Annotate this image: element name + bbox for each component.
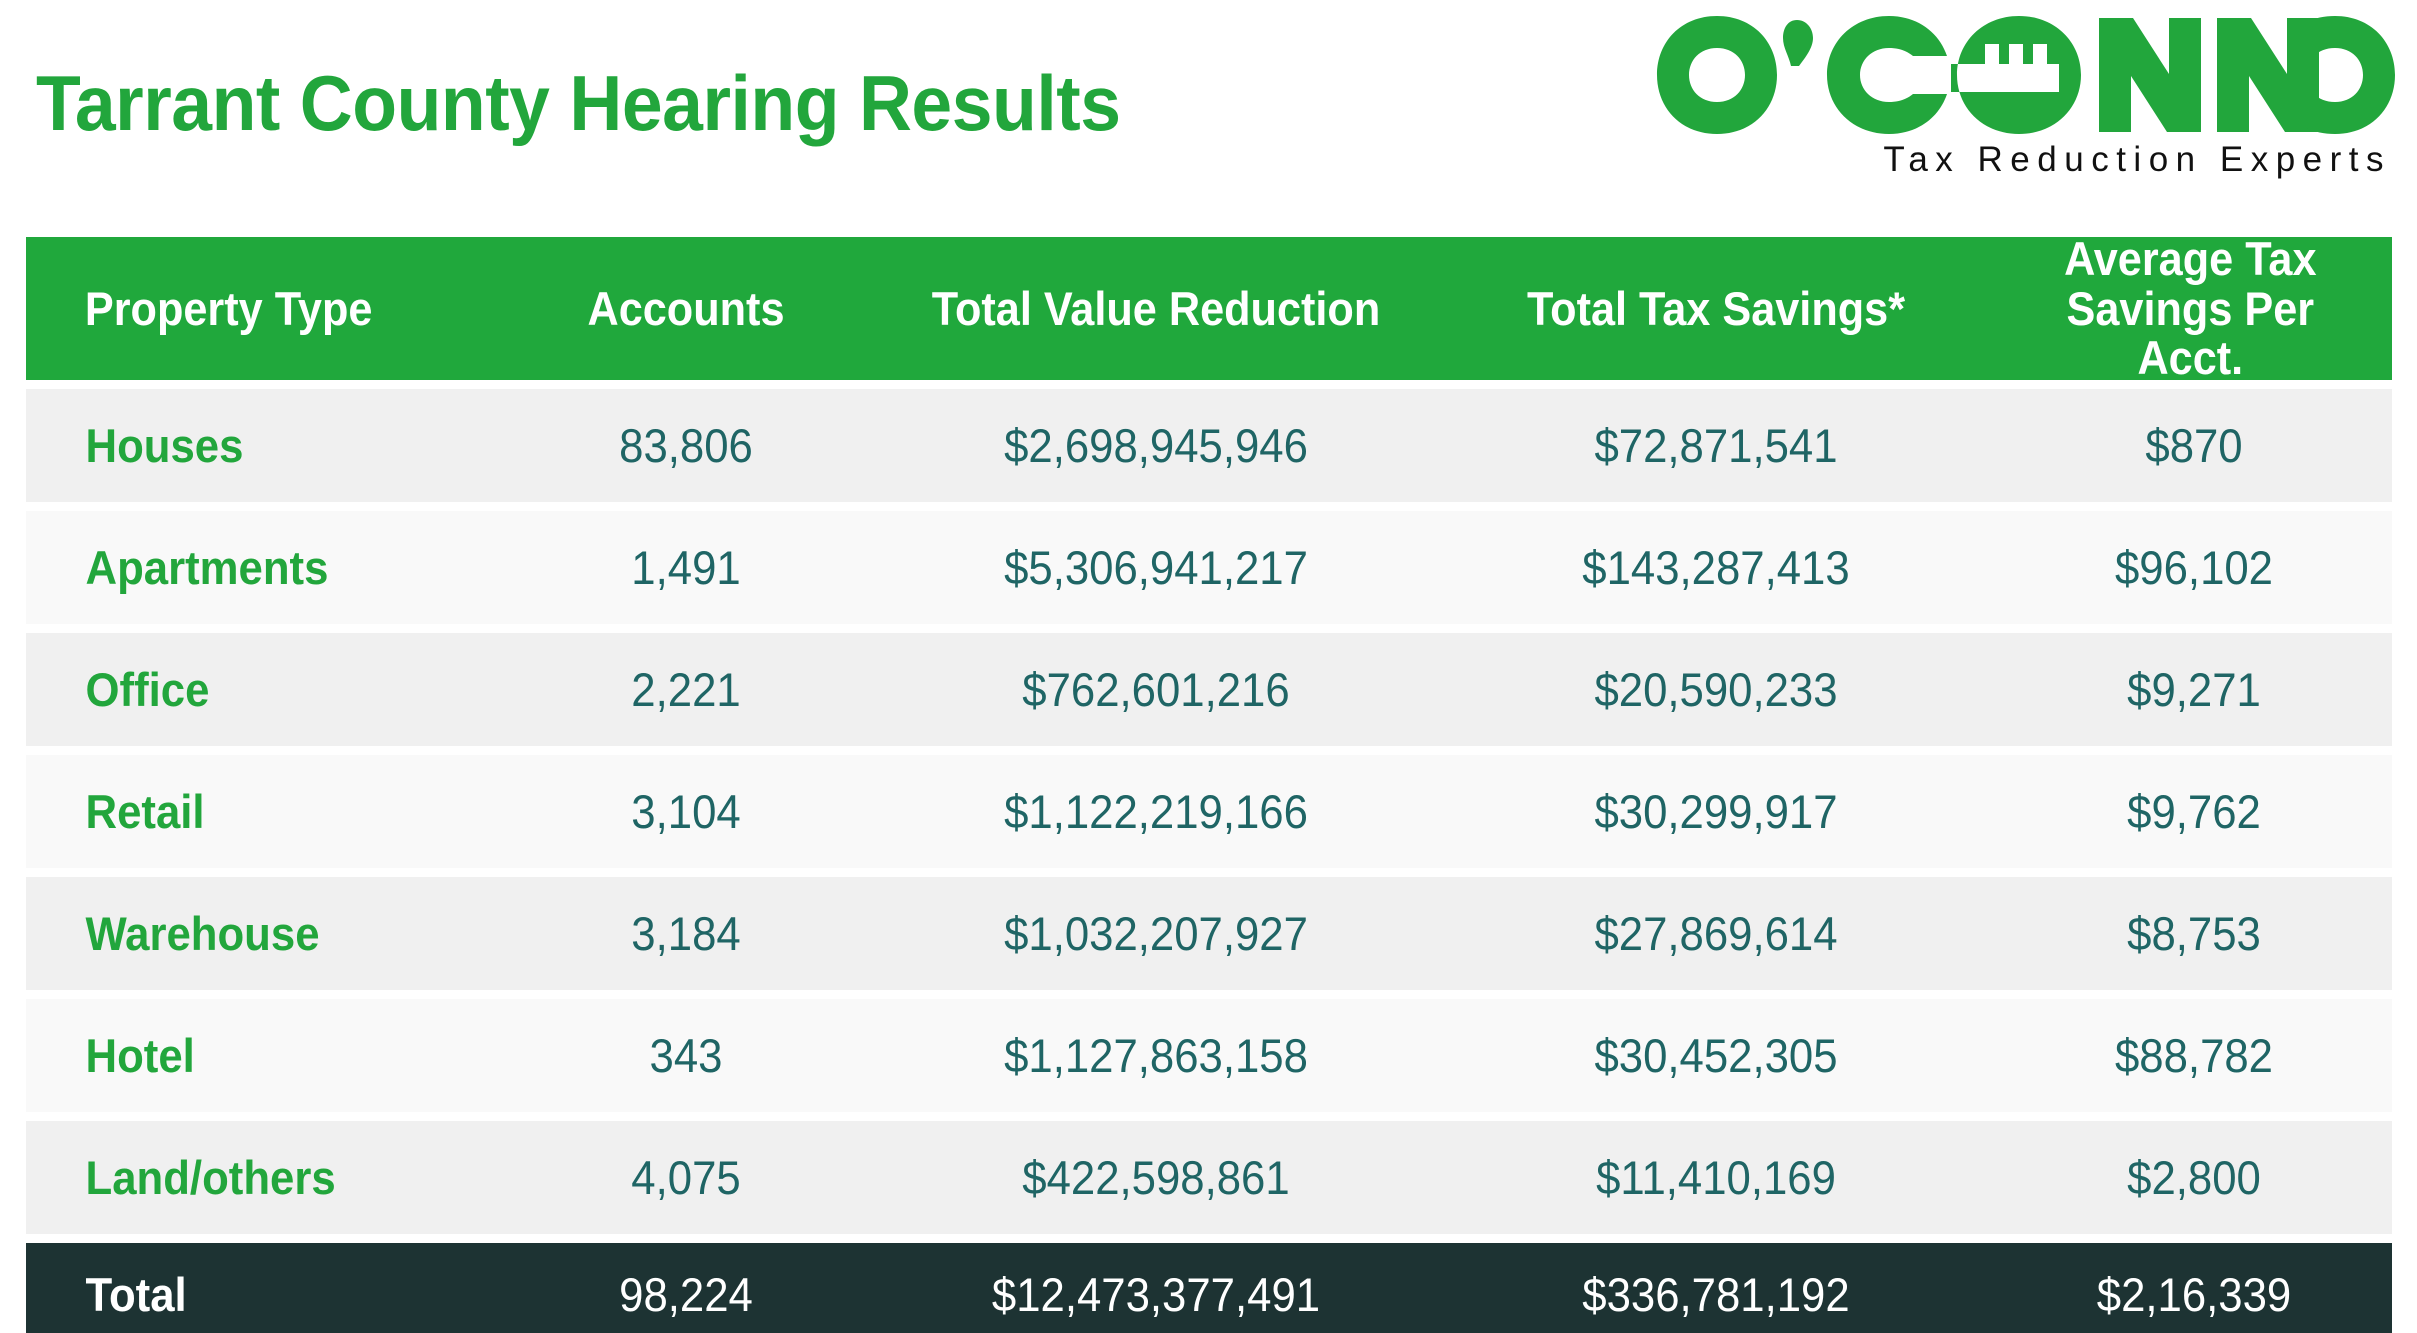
cell-value-reduction: $1,127,863,158	[896, 1031, 1417, 1080]
column-header-avg-savings: Average Tax Savings Per Acct.	[2012, 234, 2376, 383]
page-title: Tarrant County Hearing Results	[36, 58, 1121, 149]
cell-property-type: Apartments	[26, 543, 463, 592]
cell-tax-savings: $11,410,169	[1456, 1153, 1977, 1202]
cell-total-accounts: 98,224	[509, 1270, 862, 1319]
table-row: Office 2,221 $762,601,216 $20,590,233 $9…	[26, 633, 2392, 746]
cell-tax-savings: $72,871,541	[1456, 421, 1977, 470]
oconnor-logo: Tax Reduction Experts	[1655, 14, 2395, 204]
column-header-accounts: Accounts	[511, 284, 861, 334]
cell-accounts: 83,806	[509, 421, 862, 470]
column-header-property-type: Property Type	[26, 284, 458, 334]
table-row: Land/others 4,075 $422,598,861 $11,410,1…	[26, 1121, 2392, 1234]
cell-avg-savings: $9,762	[2010, 787, 2378, 836]
cell-tax-savings: $30,452,305	[1456, 1031, 1977, 1080]
cell-property-type: Warehouse	[26, 909, 463, 958]
logo-tagline: Tax Reduction Experts	[1655, 140, 2395, 180]
table-row: Retail 3,104 $1,122,219,166 $30,299,917 …	[26, 755, 2392, 868]
cell-total-tax-savings: $336,781,192	[1456, 1270, 1977, 1319]
cell-total-value-reduction: $12,473,377,491	[896, 1270, 1417, 1319]
table-total-row: Total 98,224 $12,473,377,491 $336,781,19…	[26, 1243, 2392, 1333]
cell-value-reduction: $1,032,207,927	[896, 909, 1417, 958]
cell-tax-savings: $143,287,413	[1456, 543, 1977, 592]
table-row: Hotel 343 $1,127,863,158 $30,452,305 $88…	[26, 999, 2392, 1112]
table-header-row: Property Type Accounts Total Value Reduc…	[26, 237, 2392, 380]
cell-total-label: Total	[26, 1270, 463, 1319]
table-row: Houses 83,806 $2,698,945,946 $72,871,541…	[26, 389, 2392, 502]
column-header-tax-savings: Total Tax Savings*	[1458, 284, 1973, 334]
cell-tax-savings: $27,869,614	[1456, 909, 1977, 958]
table-row: Apartments 1,491 $5,306,941,217 $143,287…	[26, 511, 2392, 624]
cell-property-type: Hotel	[26, 1031, 463, 1080]
cell-avg-savings: $9,271	[2010, 665, 2378, 714]
cell-avg-savings: $2,800	[2010, 1153, 2378, 1202]
cell-value-reduction: $1,122,219,166	[896, 787, 1417, 836]
cell-accounts: 343	[509, 1031, 862, 1080]
cell-tax-savings: $30,299,917	[1456, 787, 1977, 836]
hearing-results-table: Property Type Accounts Total Value Reduc…	[26, 237, 2392, 1333]
cell-value-reduction: $762,601,216	[896, 665, 1417, 714]
cell-tax-savings: $20,590,233	[1456, 665, 1977, 714]
column-header-value-reduction: Total Value Reduction	[898, 284, 1413, 334]
cell-avg-savings: $88,782	[2010, 1031, 2378, 1080]
cell-accounts: 3,184	[509, 909, 862, 958]
cell-property-type: Houses	[26, 421, 463, 470]
cell-total-avg-savings: $2,16,339	[2010, 1270, 2378, 1319]
cell-value-reduction: $2,698,945,946	[896, 421, 1417, 470]
column-header-avg-savings-line2: Savings Per Acct.	[2012, 284, 2369, 384]
cell-accounts: 4,075	[509, 1153, 862, 1202]
infographic-page: Tarrant County Hearing Results	[0, 0, 2417, 1333]
oconnor-wordmark-icon	[1655, 14, 2395, 136]
cell-avg-savings: $870	[2010, 421, 2378, 470]
cell-value-reduction: $5,306,941,217	[896, 543, 1417, 592]
column-header-avg-savings-line1: Average Tax	[2012, 234, 2369, 284]
cell-accounts: 3,104	[509, 787, 862, 836]
cell-property-type: Office	[26, 665, 463, 714]
cell-accounts: 2,221	[509, 665, 862, 714]
cell-avg-savings: $8,753	[2010, 909, 2378, 958]
cell-accounts: 1,491	[509, 543, 862, 592]
cell-avg-savings: $96,102	[2010, 543, 2378, 592]
page-header: Tarrant County Hearing Results	[0, 0, 2417, 230]
cell-value-reduction: $422,598,861	[896, 1153, 1417, 1202]
table-row: Warehouse 3,184 $1,032,207,927 $27,869,6…	[26, 877, 2392, 990]
cell-property-type: Retail	[26, 787, 463, 836]
cell-property-type: Land/others	[26, 1153, 463, 1202]
